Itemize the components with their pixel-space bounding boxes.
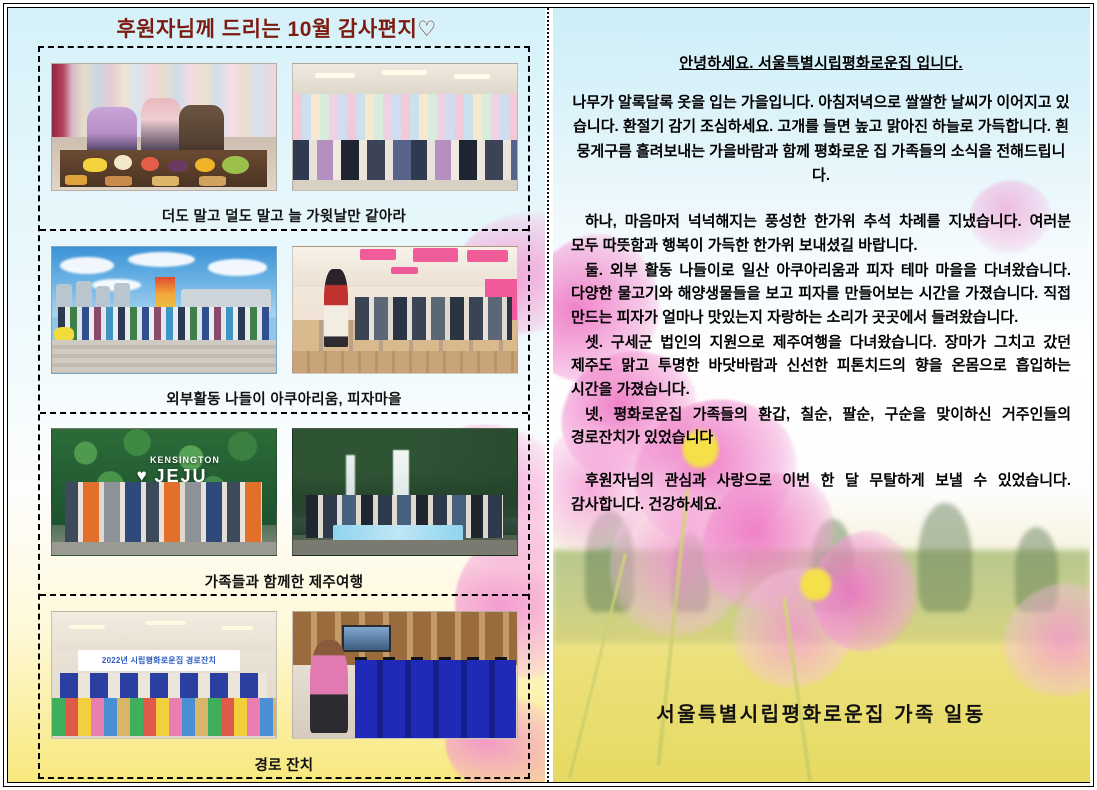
letter-paragraph-2: 둘. 외부 활동 나들이로 일산 아쿠아리움과 피자 테마 마을을 다녀왔습니다… <box>571 259 1071 330</box>
photo-row: 더도 말고 덜도 말고 늘 가윗날만 같아라 <box>40 48 528 231</box>
photo-collage-box: 더도 말고 덜도 말고 늘 가윗날만 같아라 <box>38 46 530 779</box>
letter-body: 안녕하세요. 서울특별시립평화로운집 입니다. 나무가 알록달록 옷을 입는 가… <box>571 52 1071 517</box>
banner-text: 2022년 시립평화로운집 경로잔치 <box>102 655 216 666</box>
banquet-hall-photo: 2022년 시립평화로운집 경로잔치 <box>51 611 277 739</box>
photo-pair: KENSINGTON ♥ JEJU <box>40 414 528 569</box>
photo-pair: 2022년 시립평화로운집 경로잔치 <box>40 596 528 751</box>
letter-signature: 서울특별시립평화로운집 가족 일동 <box>571 698 1071 727</box>
letter-paragraph-1: 하나, 마음마저 넉넉해지는 풍성한 한가위 추석 차례를 지냈습니다. 여러분… <box>571 210 1071 257</box>
photo-pair <box>40 48 528 203</box>
chuseok-ceremony-photo <box>51 63 277 191</box>
photo-caption: 외부활동 나들이 아쿠아리움, 피자마을 <box>40 386 528 412</box>
letter-paragraph-4: 넷, 평화로운집 가족들의 환갑, 칠순, 팔순, 구순을 맞이하신 거주인들의… <box>571 403 1071 450</box>
pizza-restaurant-photo <box>292 246 518 374</box>
outdoor-plaza-photo <box>51 246 277 374</box>
headline-container: 후원자님께 드리는 10월 감사편지♡ <box>28 12 525 44</box>
photo-row: 2022년 시립평화로운집 경로잔치 경 <box>40 596 528 777</box>
letter-lead-paragraph: 나무가 알록달록 옷을 입는 가을입니다. 아침저녁으로 쌀쌀한 날씨가 이어지… <box>571 91 1071 188</box>
photo-row: KENSINGTON ♥ JEJU <box>40 414 528 597</box>
performance-photo <box>292 611 518 739</box>
photo-pair <box>40 231 528 386</box>
photo-caption: 더도 말고 덜도 말고 늘 가윗날만 같아라 <box>40 203 528 229</box>
sign-brand-text: KENSINGTON <box>150 455 220 465</box>
waterfall-photo <box>292 428 518 556</box>
photo-table: 더도 말고 덜도 말고 늘 가윗날만 같아라 <box>40 48 528 777</box>
banquet-banner: 2022년 시립평화로운집 경로잔치 <box>78 650 239 671</box>
letter-greeting: 안녕하세요. 서울특별시립평화로운집 입니다. <box>571 52 1071 73</box>
photo-caption: 경로 잔치 <box>40 751 528 777</box>
page-title: 후원자님께 드리는 10월 감사편지♡ <box>116 13 436 43</box>
column-divider <box>547 8 549 782</box>
photo-column: 후원자님께 드리는 10월 감사편지♡ <box>8 8 545 782</box>
newsletter-page: 후원자님께 드리는 10월 감사편지♡ <box>0 0 1097 790</box>
kensington-jeju-photo: KENSINGTON ♥ JEJU <box>51 428 277 556</box>
letter-paragraph-3: 셋. 구세군 법인의 지원으로 제주여행을 다녀왔습니다. 장마가 그치고 갔던… <box>571 331 1071 402</box>
letter-closing: 후원자님의 관심과 사랑으로 이번 한 달 무탈하게 보낼 수 있었습니다. 감… <box>571 469 1071 516</box>
cosmos-center <box>800 565 832 604</box>
background-tree <box>918 503 972 611</box>
photo-row: 외부활동 나들이 아쿠아리움, 피자마을 <box>40 231 528 414</box>
photo-caption: 가족들과 함께한 제주여행 <box>40 568 528 594</box>
hanbok-group-photo <box>292 63 518 191</box>
letter-column: 안녕하세요. 서울특별시립평화로운집 입니다. 나무가 알록달록 옷을 입는 가… <box>553 8 1090 782</box>
